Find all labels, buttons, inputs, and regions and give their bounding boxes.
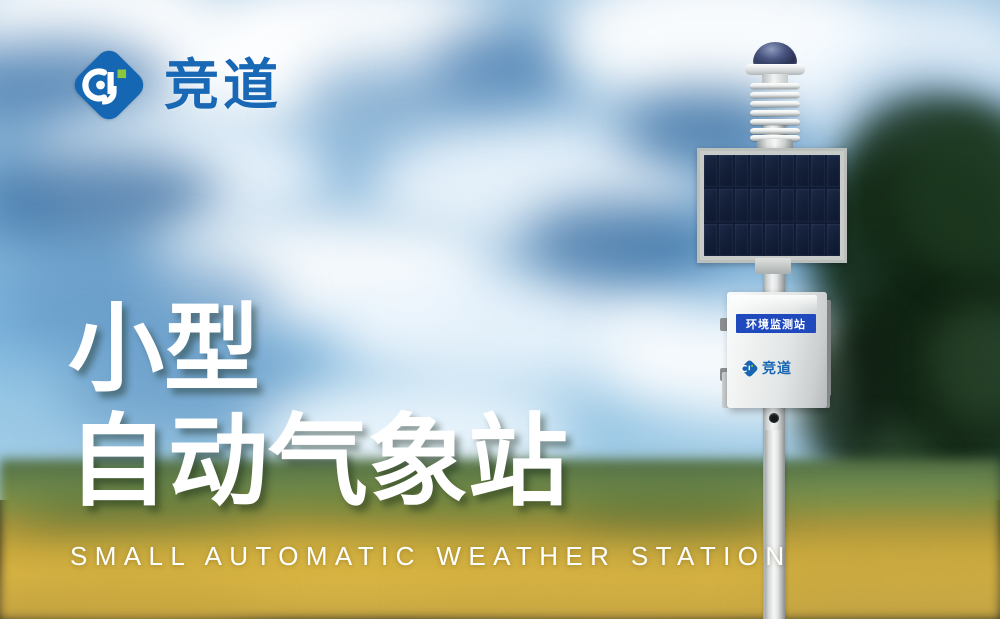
logo-glyph-icon	[70, 46, 148, 124]
solar-cell-grid	[704, 155, 840, 256]
hero-subtitle: SMALL AUTOMATIC WEATHER STATION	[70, 541, 792, 572]
radiation-shield-icon	[750, 83, 800, 141]
jingdao-logo-icon-small	[741, 360, 758, 377]
jingdao-diamond-logo-icon	[70, 46, 148, 124]
brand-name: 竞道	[164, 58, 282, 113]
weather-station-banner: 环境监测站 竞道	[0, 0, 1000, 619]
brand-logo[interactable]: 竞道	[70, 46, 282, 124]
mounting-pole-lower	[765, 430, 784, 619]
solar-panel-bracket	[755, 258, 791, 274]
enclosure-label: 环境监测站	[736, 314, 816, 333]
hero-title: 小型 自动气象站	[68, 298, 568, 516]
enclosure-brand-logo: 竞道	[741, 360, 792, 377]
solar-panel-icon	[697, 148, 847, 263]
enclosure-box: 环境监测站 竞道	[727, 292, 827, 408]
enclosure-brand-name: 竞道	[762, 362, 792, 376]
hero-title-line1: 小型	[68, 298, 568, 402]
enclosure-highlight	[731, 295, 817, 311]
hero-title-line2: 自动气象站	[68, 408, 568, 516]
pole-cable-port	[769, 413, 779, 423]
